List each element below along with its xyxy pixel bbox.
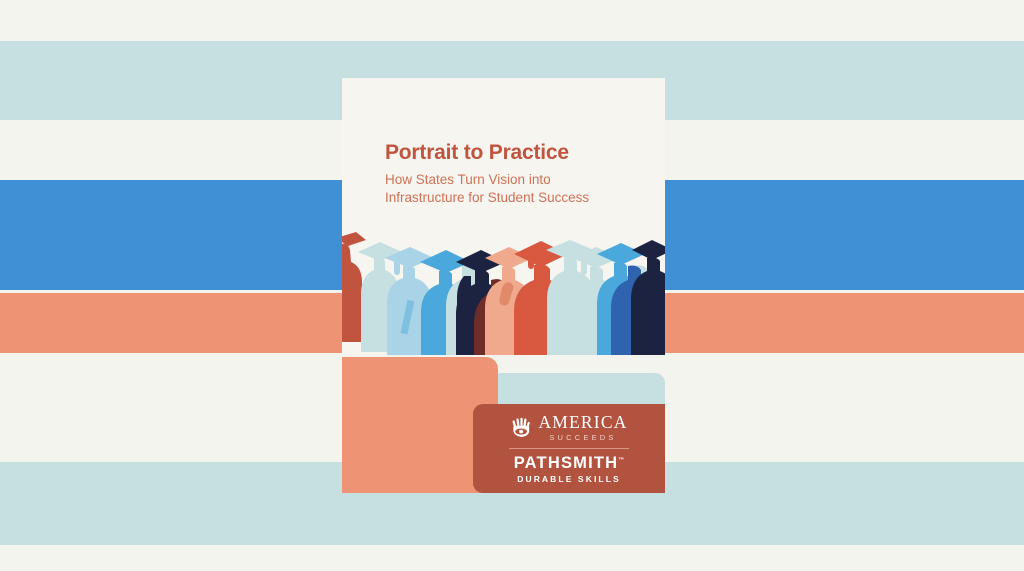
graduates-illustration xyxy=(342,230,665,355)
brand-logo-panel: AMERICA SUCCEEDS PATHSMITH™ DURABLE SKIL… xyxy=(473,404,665,493)
america-succeeds-wordmark: AMERICA SUCCEEDS xyxy=(538,414,627,441)
org-name: AMERICA xyxy=(538,414,627,432)
cover-subtitle-line-2: Infrastructure for Student Success xyxy=(385,190,589,205)
product-name-lockup: PATHSMITH™ xyxy=(514,455,625,472)
hand-icon xyxy=(510,416,533,439)
cover-title: Portrait to Practice xyxy=(385,141,645,165)
product-tagline: DURABLE SKILLS xyxy=(517,475,621,484)
logo-divider xyxy=(509,448,629,449)
america-succeeds-lockup: AMERICA SUCCEEDS xyxy=(510,414,627,441)
org-tagline: SUCCEEDS xyxy=(549,434,616,442)
cover-text-block: Portrait to Practice How States Turn Vis… xyxy=(385,141,645,208)
product-name: PATHSMITH xyxy=(514,454,619,472)
cover-artwork-canvas: Portrait to Practice How States Turn Vis… xyxy=(0,0,1024,571)
report-cover-card: Portrait to Practice How States Turn Vis… xyxy=(342,78,665,355)
trademark-symbol: ™ xyxy=(618,458,624,464)
cover-subtitle: How States Turn Vision into Infrastructu… xyxy=(385,171,645,207)
cover-subtitle-line-1: How States Turn Vision into xyxy=(385,172,551,187)
